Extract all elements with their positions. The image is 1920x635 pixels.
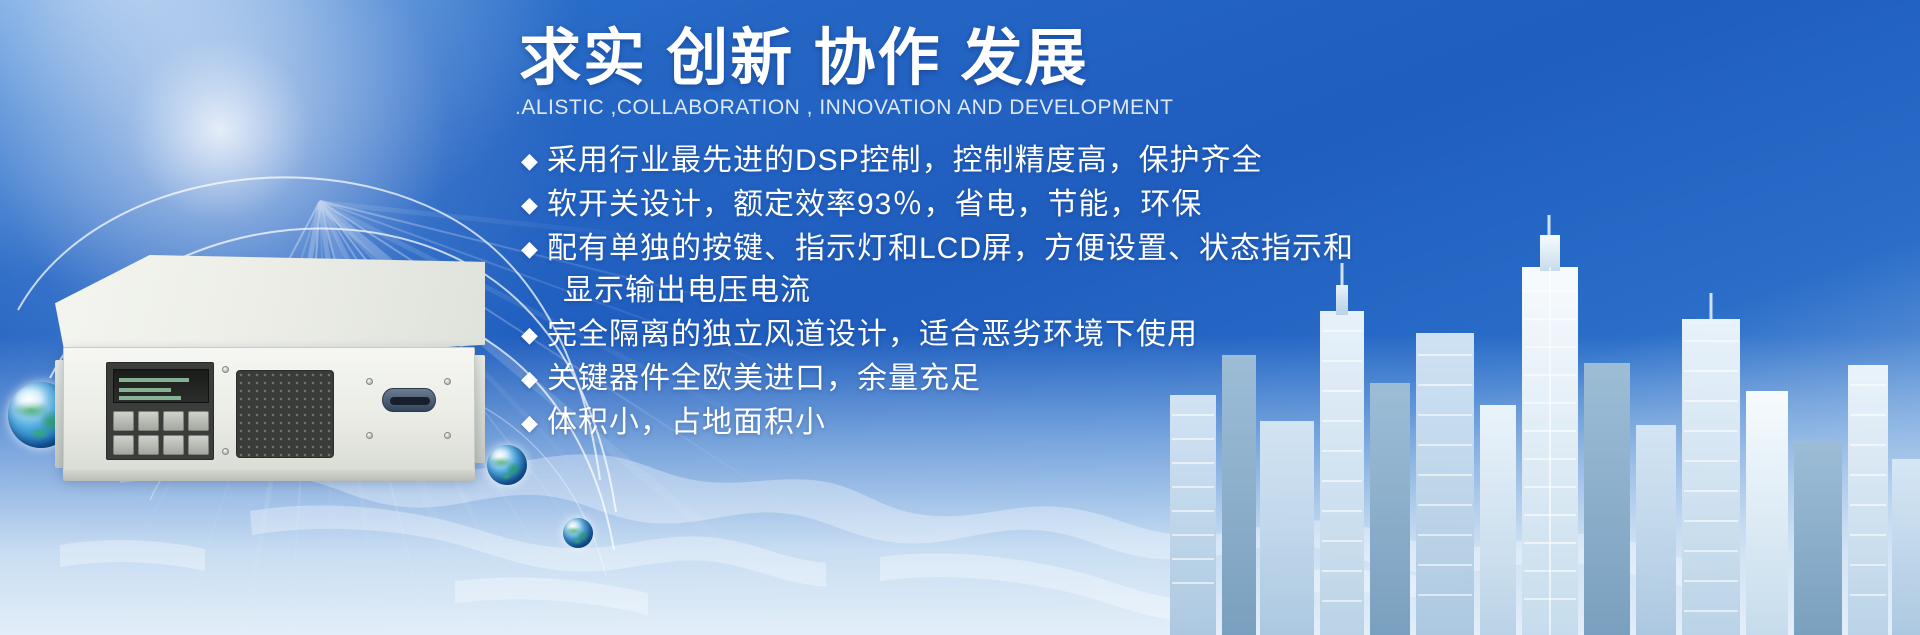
- keypad-key: [163, 435, 184, 455]
- diamond-bullet-icon: ◆: [521, 358, 547, 400]
- panel-screw: [444, 432, 451, 439]
- db9-serial-port: [382, 388, 436, 412]
- control-panel: [106, 362, 214, 460]
- device-bottom-lip: [63, 469, 475, 481]
- feature-bullet-text: 采用行业最先进的DSP控制，控制精度高，保护齐全: [547, 140, 1471, 182]
- page-subtitle: .ALISTIC ,COLLABORATION , INNOVATION AND…: [515, 96, 1173, 120]
- diamond-bullet-icon: ◆: [521, 184, 547, 226]
- keypad-key: [113, 435, 134, 455]
- feature-bullet-text: 完全隔离的独立风道设计，适合恶劣环境下使用: [547, 314, 1471, 356]
- promotional-banner: 求实 创新 协作 发展 .ALISTIC ,COLLABORATION , IN…: [0, 0, 1920, 635]
- lcd-screen: [113, 369, 209, 403]
- keypad-key: [188, 411, 209, 431]
- keypad-key: [138, 411, 159, 431]
- feature-bullet-item: ◆体积小，占地面积小: [521, 402, 1471, 444]
- panel-screw: [366, 432, 373, 439]
- banner-text-content: 求实 创新 协作 发展 .ALISTIC ,COLLABORATION , IN…: [505, 0, 1505, 635]
- diamond-bullet-icon: ◆: [521, 228, 547, 270]
- feature-bullet-text: 配有单独的按键、指示灯和LCD屏，方便设置、状态指示和显示输出电压电流: [547, 228, 1471, 312]
- diamond-bullet-icon: ◆: [521, 314, 547, 356]
- panel-screw: [444, 378, 451, 385]
- rack-mount-power-supply: [55, 255, 485, 520]
- keypad-key: [138, 435, 159, 455]
- diamond-bullet-icon: ◆: [521, 140, 547, 182]
- diamond-bullet-icon: ◆: [521, 402, 547, 444]
- feature-bullet-item: ◆软开关设计，额定效率93％，省电，节能，环保: [521, 184, 1471, 226]
- keypad-key: [188, 435, 209, 455]
- feature-bullet-item: ◆关键器件全欧美进口，余量充足: [521, 358, 1471, 400]
- ventilation-fan-grille: [236, 370, 334, 458]
- keypad: [113, 411, 209, 455]
- panel-screw: [222, 448, 229, 455]
- feature-bullet-text: 体积小，占地面积小: [547, 402, 1471, 444]
- feature-bullet-list: ◆采用行业最先进的DSP控制，控制精度高，保护齐全◆软开关设计，额定效率93％，…: [521, 140, 1471, 446]
- keypad-key: [113, 411, 134, 431]
- feature-bullet-text: 关键器件全欧美进口，余量充足: [547, 358, 1471, 400]
- feature-bullet-continuation: 显示输出电压电流: [547, 270, 1471, 312]
- feature-bullet-item: ◆完全隔离的独立风道设计，适合恶劣环境下使用: [521, 314, 1471, 356]
- feature-bullet-item: ◆配有单独的按键、指示灯和LCD屏，方便设置、状态指示和显示输出电压电流: [521, 228, 1471, 312]
- feature-bullet-item: ◆采用行业最先进的DSP控制，控制精度高，保护齐全: [521, 140, 1471, 182]
- panel-screw: [222, 366, 229, 373]
- device-front-panel: [63, 347, 475, 475]
- feature-bullet-text: 软开关设计，额定效率93％，省电，节能，环保: [547, 184, 1471, 226]
- keypad-key: [163, 411, 184, 431]
- panel-screw: [366, 378, 373, 385]
- page-title: 求实 创新 协作 发展: [519, 26, 1089, 91]
